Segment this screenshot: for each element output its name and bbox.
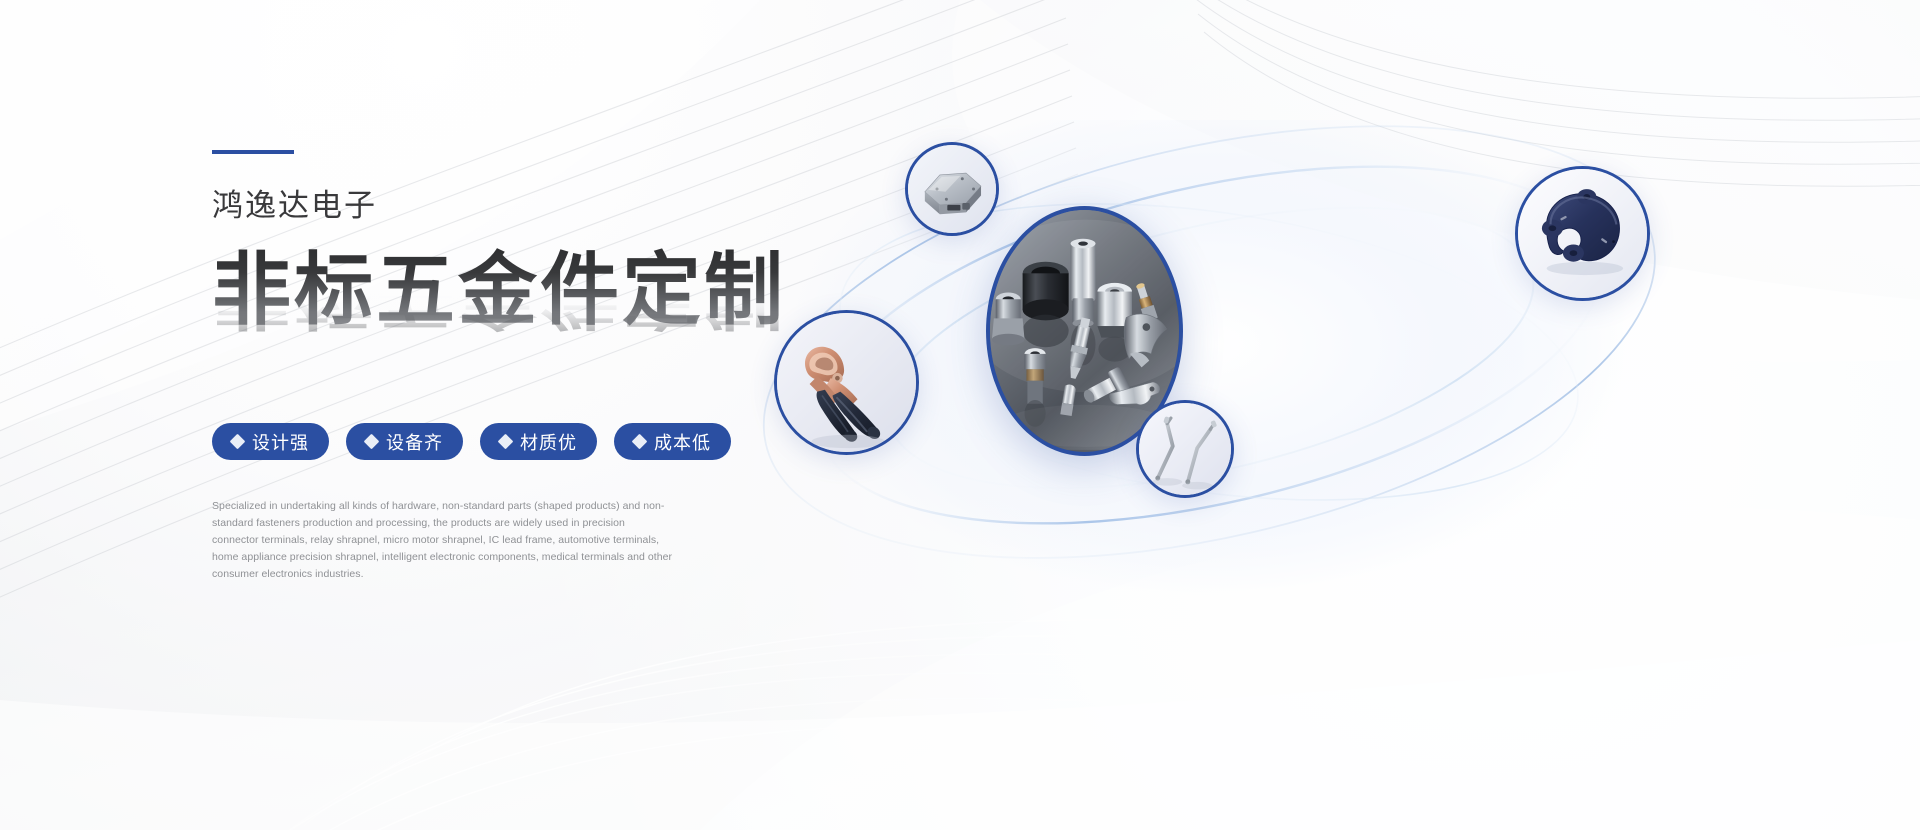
feature-pill-label: 设计强 — [252, 429, 309, 455]
accent-rule — [212, 150, 294, 154]
feature-pill-cost[interactable]: 成本低 — [614, 423, 731, 460]
feature-pill-material[interactable]: 材质优 — [480, 423, 597, 460]
feature-pill-label: 成本低 — [654, 429, 711, 455]
diamond-icon — [364, 434, 380, 450]
product-node-wire-brackets[interactable] — [1136, 400, 1234, 498]
feature-pill-equipment[interactable]: 设备齐 — [346, 423, 463, 460]
navy-retaining-clip-image — [1518, 169, 1647, 298]
bent-wire-brackets-image — [1139, 403, 1231, 495]
feature-pill-row: 设计强 设备齐 材质优 成本低 — [212, 423, 832, 460]
feature-pill-label: 设备齐 — [386, 429, 443, 455]
hero-text-column: 鸿逸达电子 非标五金件定制 非标五金件定制 设计强 设备齐 材质优 成本低 — [212, 150, 832, 583]
metal-enclosure-box-image — [908, 145, 996, 233]
product-showcase — [740, 120, 1890, 620]
diamond-icon — [632, 434, 648, 450]
diamond-icon — [498, 434, 514, 450]
page-title: 非标五金件定制 — [212, 247, 832, 332]
diamond-icon — [230, 434, 246, 450]
product-node-enclosure-box[interactable] — [905, 142, 999, 236]
product-node-retaining-clip[interactable] — [1515, 166, 1650, 301]
feature-pill-label: 材质优 — [520, 429, 577, 455]
headline-wrap: 非标五金件定制 非标五金件定制 — [212, 247, 832, 365]
copper-battery-clamp-image — [777, 313, 916, 452]
brand-name: 鸿逸达电子 — [212, 190, 832, 221]
product-node-battery-clamp[interactable] — [774, 310, 919, 455]
company-description: Specialized in undertaking all kinds of … — [212, 498, 674, 583]
feature-pill-design[interactable]: 设计强 — [212, 423, 329, 460]
hero-banner: 鸿逸达电子 非标五金件定制 非标五金件定制 设计强 设备齐 材质优 成本低 — [0, 0, 1920, 830]
